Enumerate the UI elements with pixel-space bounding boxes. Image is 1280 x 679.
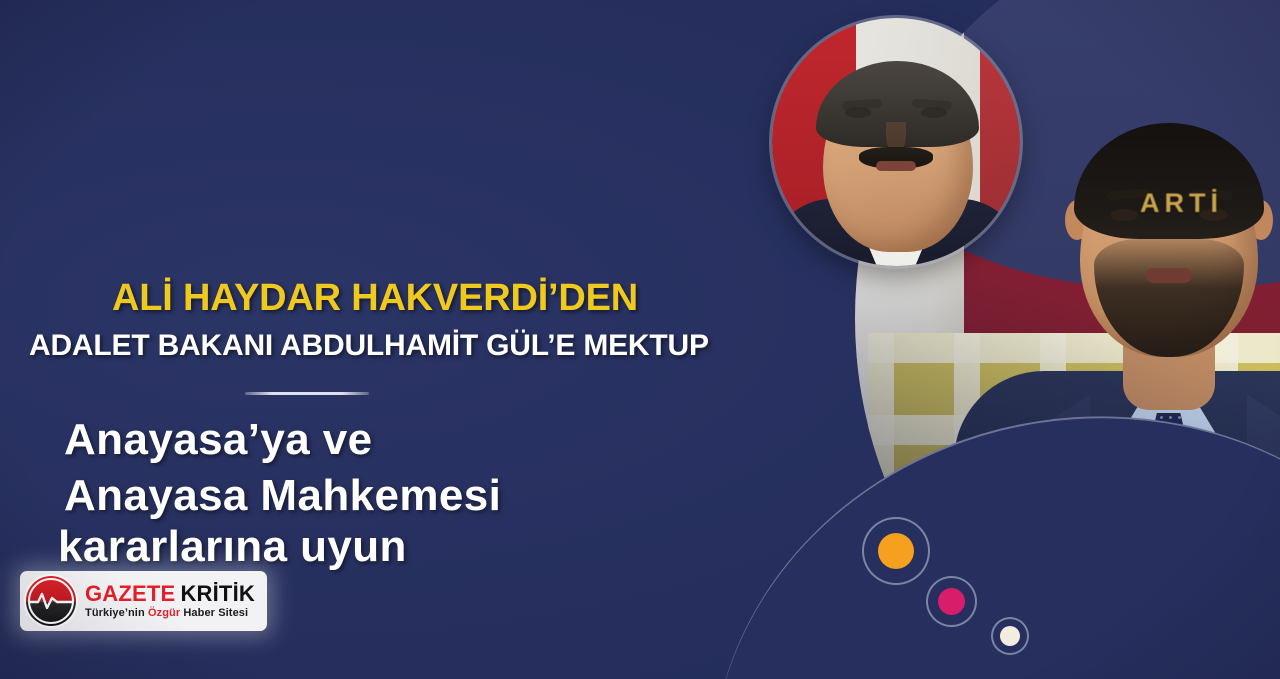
site-logo[interactable]: GAZETEKRİTİK Türkiye’nin Özgür Haber Sit… [20, 571, 267, 631]
dot-magenta-icon [938, 588, 965, 615]
quote-line-2: Anayasa Mahkemesi [64, 468, 704, 524]
logo-tagline: Türkiye’nin Özgür Haber Sitesi [85, 608, 255, 619]
logo-wordmark: GAZETEKRİTİK [85, 583, 255, 605]
tagline-pre: Türkiye’nin [85, 607, 148, 619]
tagline-post: Haber Sitesi [180, 607, 248, 619]
logo-word-gazete: GAZETE [85, 581, 175, 606]
gazete-kritik-emblem-icon [26, 576, 76, 626]
tagline-highlight: Özgür [148, 607, 180, 619]
minister-mouth [876, 161, 916, 171]
news-banner-image: AYITŞ [0, 0, 1280, 679]
dot-cream-icon [1000, 626, 1020, 646]
pulse-line-icon [30, 591, 72, 609]
divider-rule [245, 392, 369, 395]
inset-portrait-minister [772, 18, 1020, 266]
headline-primary: ALİ HAYDAR HAKVERDİ’DEN [112, 277, 638, 320]
quote-line-3: kararlarına uyun [58, 519, 704, 575]
headline-secondary: ADALET BAKANI ABDULHAMİT GÜL’E MEKTUP [29, 329, 709, 363]
quote-line-1: Anayasa’ya ve [64, 412, 704, 468]
logo-word-kritik: KRİTİK [180, 581, 255, 606]
dot-orange-icon [878, 533, 914, 569]
backdrop-text-right: ARTİ [1140, 188, 1223, 219]
quote-block: Anayasa’ya ve Anayasa Mahkemesi kararlar… [64, 412, 704, 575]
